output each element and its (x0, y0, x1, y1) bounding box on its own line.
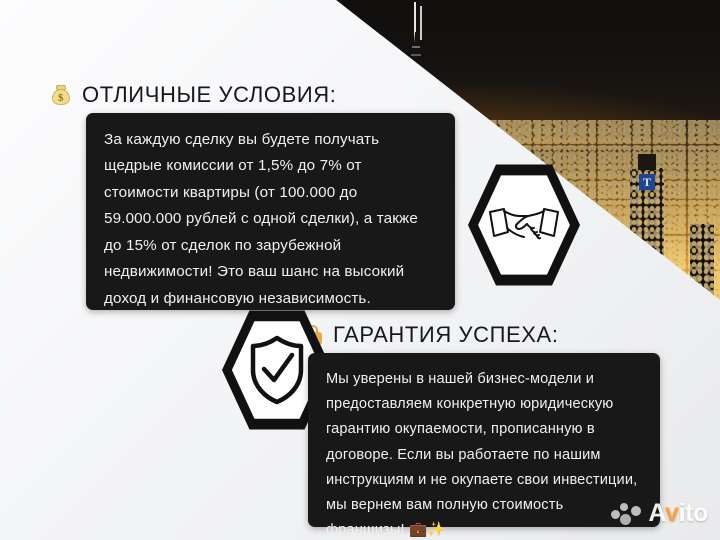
card-success-guarantee: Мы уверены в нашей бизнес-модели и предо… (308, 353, 660, 527)
shield-check-icon (246, 334, 308, 406)
heading-excellent-conditions: $ ОТЛИЧНЫЕ УСЛОВИЯ: (50, 82, 337, 108)
card-body-text: Мы уверены в нашей бизнес-модели и предо… (326, 367, 642, 540)
heading-text: ОТЛИЧНЫЕ УСЛОВИЯ: (82, 82, 337, 108)
heading-success-guarantee: ГАРАНТИЯ УСПЕХА: (303, 322, 559, 348)
avito-v: v (665, 499, 679, 527)
banner-canvas: T $ ОТЛИЧНЫЕ УСЛОВИЯ: За каждую сделку в… (0, 0, 720, 540)
avito-ito: ito (679, 499, 708, 527)
handshake-icon (487, 198, 561, 252)
avito-logo-icon (611, 503, 641, 525)
card-body-text: За каждую сделку вы будете получать щедр… (104, 127, 437, 312)
avito-wordmark: Avito (648, 499, 708, 528)
money-bag-icon: $ (50, 84, 72, 106)
heading-text: ГАРАНТИЯ УСПЕХА: (333, 322, 559, 348)
avito-watermark: Avito (611, 499, 708, 528)
avito-a: A (648, 499, 665, 527)
card-excellent-conditions: За каждую сделку вы будете получать щедр… (86, 113, 455, 310)
tower-logo-icon: T (639, 174, 655, 190)
